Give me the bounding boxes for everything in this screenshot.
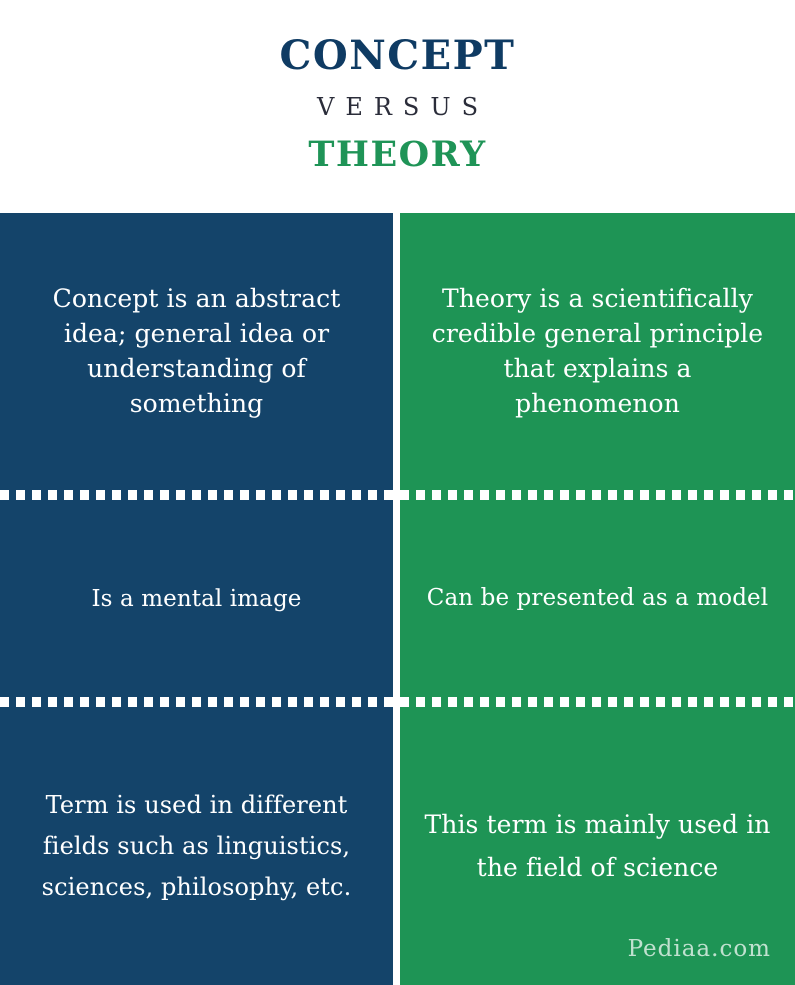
- comparison-infographic: CONCEPT VERSUS THEORY Concept is an abst…: [0, 0, 795, 985]
- infographic-header: CONCEPT VERSUS THEORY: [0, 0, 795, 213]
- page-title-secondary: THEORY: [308, 134, 486, 176]
- comparison-column-theory: Theory is a scientifically credible gene…: [400, 213, 795, 985]
- theory-cell-1-text: Theory is a scientifically credible gene…: [422, 281, 773, 421]
- concept-cell-2-text: Is a mental image: [92, 582, 302, 616]
- concept-cell-1: Concept is an abstract idea; general ide…: [0, 213, 393, 490]
- concept-cell-1-text: Concept is an abstract idea; general ide…: [22, 281, 371, 421]
- concept-cell-2: Is a mental image: [0, 500, 393, 698]
- theory-cell-2: Can be presented as a model: [400, 500, 795, 698]
- column-divider: [393, 213, 400, 985]
- theory-cell-1: Theory is a scientifically credible gene…: [400, 213, 795, 490]
- theory-cell-3: This term is mainly used in the field of…: [400, 707, 795, 985]
- dashed-separator-left-2: [0, 697, 393, 707]
- theory-cell-3-text: This term is mainly used in the field of…: [422, 803, 773, 889]
- dashed-separator-right-2: [400, 697, 795, 707]
- comparison-column-concept: Concept is an abstract idea; general ide…: [0, 213, 393, 985]
- comparison-body: Concept is an abstract idea; general ide…: [0, 213, 795, 985]
- concept-cell-3-text: Term is used in different fields such as…: [22, 785, 371, 908]
- concept-cell-3: Term is used in different fields such as…: [0, 707, 393, 985]
- page-title-primary: CONCEPT: [280, 33, 516, 79]
- dashed-separator-right-1: [400, 490, 795, 500]
- dashed-separator-left-1: [0, 490, 393, 500]
- page-title-connector: VERSUS: [306, 92, 489, 122]
- theory-cell-2-text: Can be presented as a model: [427, 578, 768, 619]
